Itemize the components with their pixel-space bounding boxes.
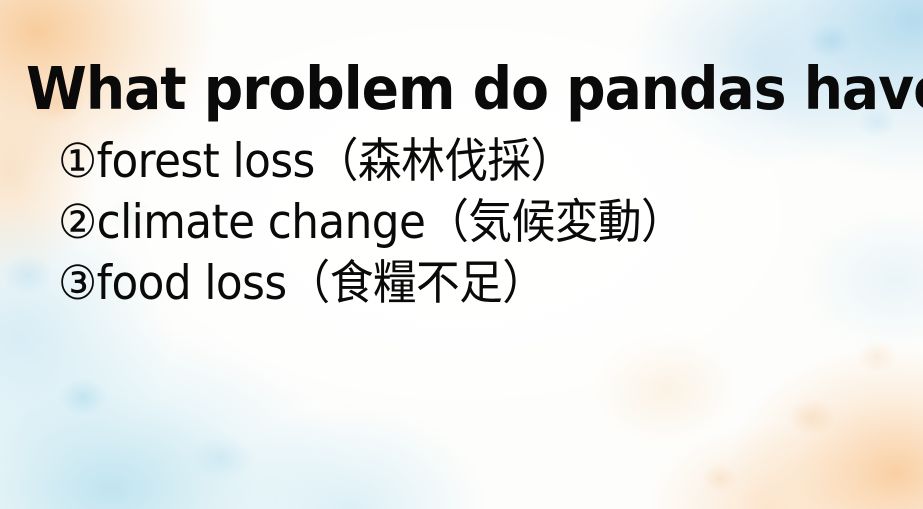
presentation-slide: What problem do pandas have? ①forest los… [0,0,923,509]
bullet-list: ①forest loss（森林伐採） ②climate change（気候変動）… [58,131,908,314]
slide-title: What problem do pandas have? [26,58,839,120]
slide-content: What problem do pandas have? ①forest los… [0,0,923,509]
bullet-item-forest-loss: ①forest loss（森林伐採） [58,131,849,192]
bullet-item-climate-change: ②climate change（気候変動） [58,192,849,253]
bullet-item-food-loss: ③food loss（食糧不足） [58,253,849,314]
